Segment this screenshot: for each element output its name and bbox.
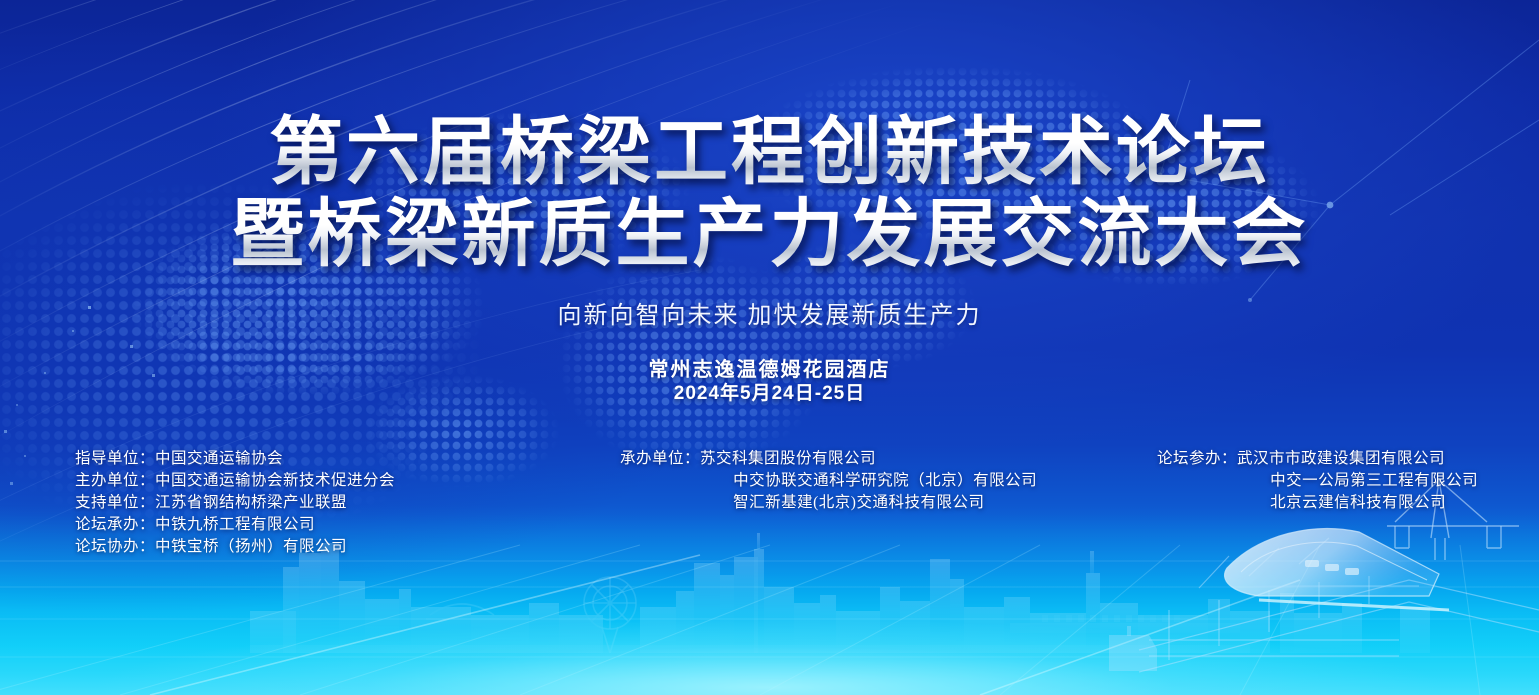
- org-value: 中国交通运输协会新技术促进分会: [155, 470, 395, 492]
- org-row: 中交协联交通科学研究院（北京）有限公司: [620, 470, 1037, 492]
- org-row: 支持单位：江苏省钢结构桥梁产业联盟: [75, 492, 395, 514]
- org-row: 北京云建信科技有限公司: [1157, 492, 1478, 514]
- conference-banner: 第六届桥梁工程创新技术论坛 暨桥梁新质生产力发展交流大会 向新向智向未来 加快发…: [0, 0, 1539, 695]
- org-value: 江苏省钢结构桥梁产业联盟: [155, 492, 347, 514]
- main-title-line-2: 暨桥梁新质生产力发展交流大会: [0, 194, 1539, 276]
- org-label: 论坛参办：: [1157, 448, 1237, 470]
- org-row: 论坛承办：中铁九桥工程有限公司: [75, 514, 395, 536]
- org-label: 主办单位：: [75, 470, 155, 492]
- org-label: 论坛承办：: [75, 514, 155, 536]
- org-value: 中铁九桥工程有限公司: [155, 514, 315, 536]
- org-row: 论坛参办：武汉市市政建设集团有限公司: [1157, 448, 1478, 470]
- title-block: 第六届桥梁工程创新技术论坛 暨桥梁新质生产力发展交流大会: [0, 112, 1539, 276]
- org-row: 主办单位：中国交通运输协会新技术促进分会: [75, 470, 395, 492]
- org-value: 苏交科集团股份有限公司: [700, 448, 876, 470]
- organizations-middle-column: 承办单位：苏交科集团股份有限公司 中交协联交通科学研究院（北京）有限公司 智汇新…: [620, 448, 1037, 514]
- org-label: 论坛协办：: [75, 536, 155, 558]
- org-label: 指导单位：: [75, 448, 155, 470]
- org-row: 指导单位：中国交通运输协会: [75, 448, 395, 470]
- org-value: 北京云建信科技有限公司: [1270, 492, 1446, 514]
- org-label: 承办单位：: [620, 448, 700, 470]
- org-value: 智汇新基建(北京)交通科技有限公司: [733, 492, 984, 514]
- org-value: 中国交通运输协会: [155, 448, 283, 470]
- org-row: 论坛协办：中铁宝桥（扬州）有限公司: [75, 536, 395, 558]
- org-row: 智汇新基建(北京)交通科技有限公司: [620, 492, 1037, 514]
- main-title-line-1: 第六届桥梁工程创新技术论坛: [0, 112, 1539, 194]
- org-label: 支持单位：: [75, 492, 155, 514]
- org-row: 承办单位：苏交科集团股份有限公司: [620, 448, 1037, 470]
- org-value: 中交协联交通科学研究院（北京）有限公司: [733, 470, 1037, 492]
- organizations-right-column: 论坛参办：武汉市市政建设集团有限公司 中交一公局第三工程有限公司 北京云建信科技…: [1157, 448, 1478, 514]
- date-text: 2024年5月24日-25日: [0, 378, 1539, 405]
- org-value: 中铁宝桥（扬州）有限公司: [155, 536, 347, 558]
- org-row: 中交一公局第三工程有限公司: [1157, 470, 1478, 492]
- org-value: 武汉市市政建设集团有限公司: [1237, 448, 1445, 470]
- subtitle: 向新向智向未来 加快发展新质生产力: [0, 295, 1539, 330]
- organizations-left-column: 指导单位：中国交通运输协会 主办单位：中国交通运输协会新技术促进分会 支持单位：…: [75, 448, 395, 558]
- org-value: 中交一公局第三工程有限公司: [1270, 470, 1478, 492]
